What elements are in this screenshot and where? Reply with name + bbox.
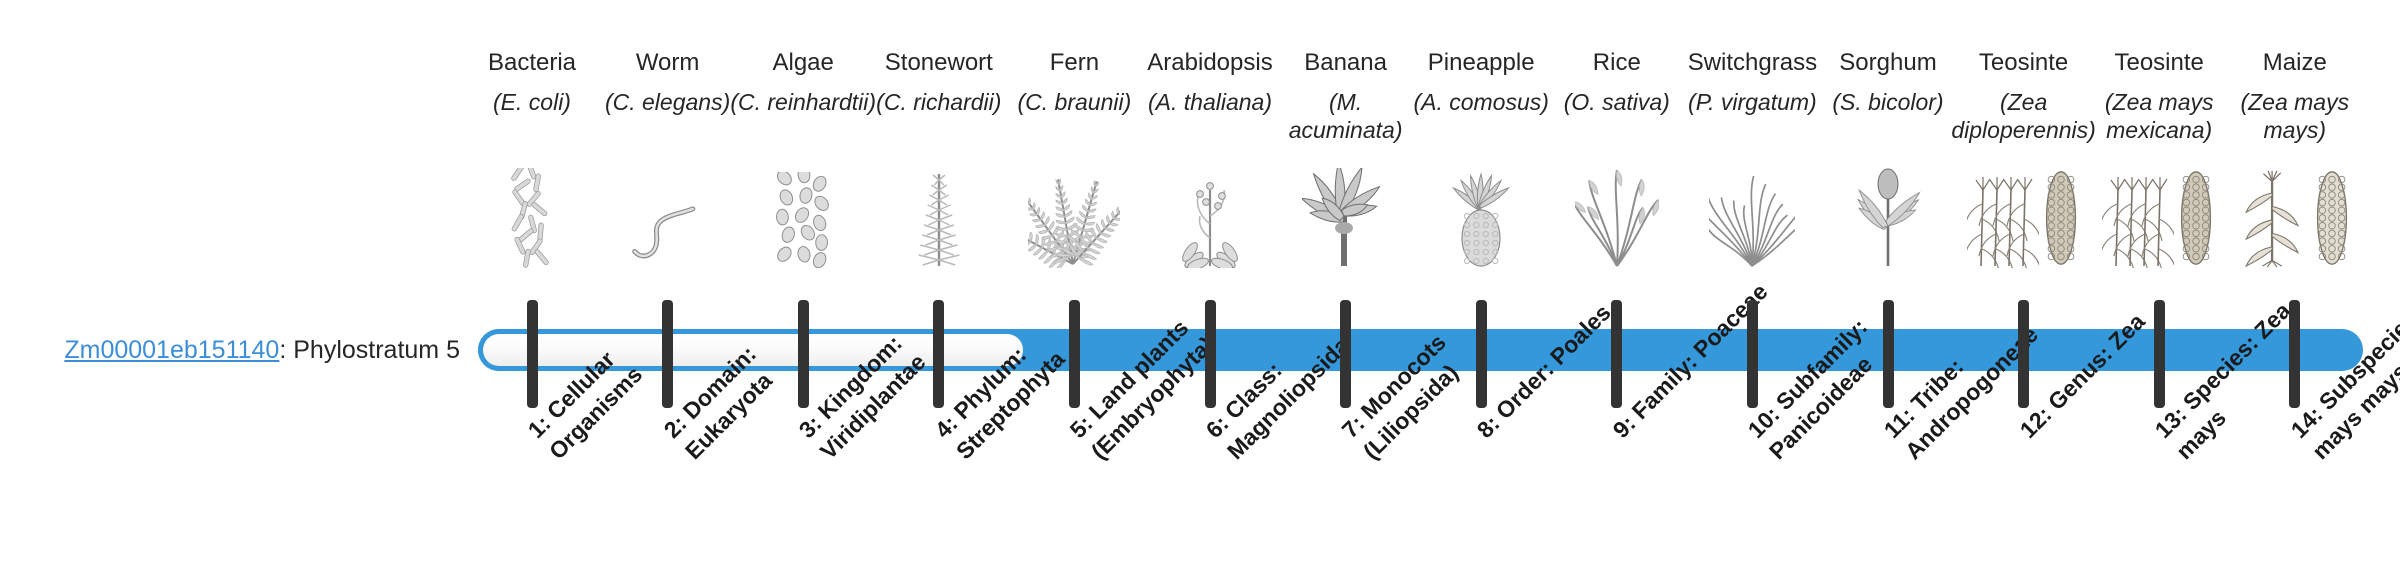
species-common-name: Sorghum [1813, 48, 1963, 78]
species-common-name: Teosinte [1949, 48, 2099, 78]
arabidopsis-plant-icon [1135, 168, 1285, 268]
species-scientific-name: (A. thaliana) [1135, 88, 1285, 116]
teosinte-plant-ear-icon: ;;;;;;;;;;;;;;;;;;;;;;;;;;;;;;;;; [1949, 168, 2099, 268]
phylostratum-tick[interactable] [1476, 300, 1487, 408]
phylostratum-tick[interactable] [1069, 300, 1080, 408]
sorghum-plant-icon [1813, 168, 1963, 268]
banana-tree-icon [1271, 168, 1421, 268]
pineapple-fruit-icon [1406, 168, 1556, 268]
species-scientific-name: (P. virgatum) [1677, 88, 1827, 116]
phylostratum-tick[interactable] [1340, 300, 1351, 408]
species-scientific-name: (C. elegans) [593, 88, 743, 116]
bacteria-rods-icon [457, 168, 607, 268]
stonewort-alga-icon [864, 168, 1014, 268]
phylostratum-rank: Species: Zea mays [2171, 297, 2296, 464]
phylostratum-tick[interactable] [798, 300, 809, 408]
species-column: Arabidopsis (A. thaliana) [1135, 48, 1285, 116]
phylostratum-tick[interactable] [1883, 300, 1894, 408]
species-scientific-name: (M. acuminata) [1271, 88, 1421, 144]
gene-id-link[interactable]: Zm00001eb151140 [64, 336, 279, 364]
species-column: Bacteria (E. coli) [457, 48, 607, 116]
species-common-name: Maize [2220, 48, 2370, 78]
species-column: Maize (Zea mays mays) [2220, 48, 2370, 144]
species-column: Worm (C. elegans) [593, 48, 743, 116]
timeline-track-area: Bacteria (E. coli)1: Cellular OrganismsW… [478, 0, 2363, 580]
species-column: Stonewort (C. richardii) [864, 48, 1014, 116]
species-scientific-name: (A. comosus) [1406, 88, 1556, 116]
species-column: Teosinte (Zea diploperennis) [1949, 48, 2099, 144]
species-common-name: Switchgrass [1677, 48, 1827, 78]
phylostratum-tick[interactable] [933, 300, 944, 408]
species-common-name: Rice [1542, 48, 1692, 78]
gene-label-separator: : [279, 336, 293, 364]
species-common-name: Worm [593, 48, 743, 78]
phylostratum-tick[interactable] [2154, 300, 2165, 408]
rice-plant-icon [1542, 168, 1692, 268]
green-algae-cells-icon [728, 168, 878, 268]
phylostratum-tick[interactable] [2289, 300, 2300, 408]
species-common-name: Fern [999, 48, 1149, 78]
phylostratum-tick[interactable] [1611, 300, 1622, 408]
phylostratum-tick[interactable] [2018, 300, 2029, 408]
species-scientific-name: (C. braunii) [999, 88, 1149, 116]
species-common-name: Stonewort [864, 48, 1014, 78]
gene-phylostratum-value: Phylostratum 5 [293, 336, 460, 364]
species-column: Algae (C. reinhardtii) [728, 48, 878, 116]
species-column: Rice (O. sativa) [1542, 48, 1692, 116]
species-column: Banana (M. acuminata) [1271, 48, 1421, 144]
phylostratum-tick[interactable] [662, 300, 673, 408]
species-scientific-name: (E. coli) [457, 88, 607, 116]
species-common-name: Banana [1271, 48, 1421, 78]
phylostratum-tick[interactable] [527, 300, 538, 408]
species-scientific-name: (S. bicolor) [1813, 88, 1963, 116]
species-common-name: Pineapple [1406, 48, 1556, 78]
species-column: Sorghum (S. bicolor) [1813, 48, 1963, 116]
gene-phylostratum-label: Zm00001eb151140: Phylostratum 5 [40, 335, 460, 365]
species-scientific-name: (C. richardii) [864, 88, 1014, 116]
species-column: Pineapple (A. comosus) [1406, 48, 1556, 116]
switchgrass-clump-icon [1677, 168, 1827, 268]
species-column: Teosinte (Zea mays mexicana) [2084, 48, 2234, 144]
nematode-worm-icon [593, 168, 743, 268]
species-scientific-name: (Zea mays mexicana) [2084, 88, 2234, 144]
phylostratum-tick[interactable] [1205, 300, 1216, 408]
species-column: Fern (C. braunii) [999, 48, 1149, 116]
species-common-name: Algae [728, 48, 878, 78]
species-scientific-name: (Zea diploperennis) [1949, 88, 2099, 144]
species-column: Switchgrass (P. virgatum) [1677, 48, 1827, 116]
maize-plant-ear-icon: ;;;;;;;;;;;;;;;;;;;;;;;;;;;;;;;;; [2220, 168, 2370, 268]
species-scientific-name: (O. sativa) [1542, 88, 1692, 116]
fern-frond-icon [999, 168, 1149, 268]
phylostratum-tick[interactable] [1747, 300, 1758, 408]
species-scientific-name: (Zea mays mays) [2220, 88, 2370, 144]
species-common-name: Bacteria [457, 48, 607, 78]
teosinte-plant-ear-icon: ;;;;;;;;;;;;;;;;;;;;;;;;;;;;;;;;; [2084, 168, 2234, 268]
species-common-name: Arabidopsis [1135, 48, 1285, 78]
species-common-name: Teosinte [2084, 48, 2234, 78]
phylostratigraphy-timeline: Zm00001eb151140: Phylostratum 5 Bacteria… [0, 0, 2400, 580]
species-scientific-name: (C. reinhardtii) [728, 88, 878, 116]
